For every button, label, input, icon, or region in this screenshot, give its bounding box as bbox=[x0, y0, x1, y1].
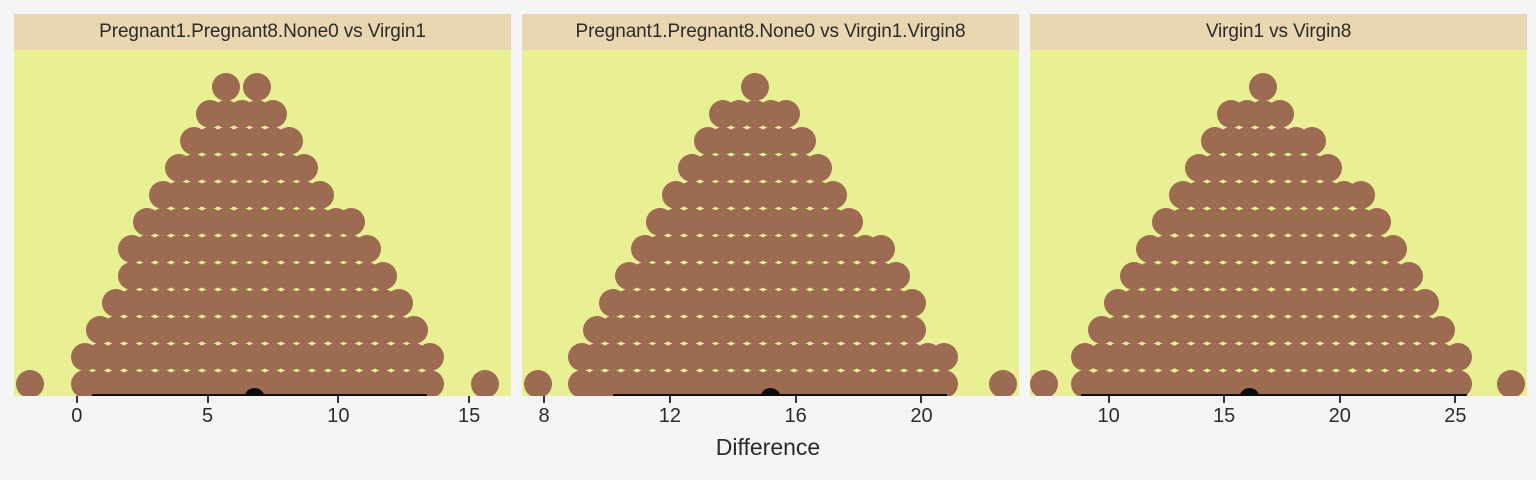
facet-panel-2: Pregnant1.Pregnant8.None0 vs Virgin1.Vir… bbox=[522, 14, 1019, 396]
data-dot bbox=[400, 316, 428, 344]
x-axis-panel-3: 10152025 bbox=[1030, 396, 1527, 406]
data-dot bbox=[1363, 208, 1391, 236]
data-dot bbox=[16, 370, 44, 396]
x-axis-tick-mark bbox=[795, 396, 797, 403]
x-axis-tick-mark bbox=[207, 396, 209, 403]
data-dot bbox=[1427, 316, 1455, 344]
x-axis-tick-mark bbox=[468, 396, 470, 403]
x-axis-tick-label: 0 bbox=[71, 405, 82, 428]
x-axis-tick-mark bbox=[76, 396, 78, 403]
x-axis-tick-label: 5 bbox=[202, 405, 213, 428]
facet-strip-2: Pregnant1.Pregnant8.None0 vs Virgin1.Vir… bbox=[522, 14, 1019, 50]
data-dot bbox=[882, 262, 910, 290]
data-dot bbox=[835, 208, 863, 236]
x-axis-tick-mark bbox=[920, 396, 922, 403]
data-dot bbox=[243, 73, 271, 101]
data-dot bbox=[1395, 262, 1423, 290]
facet-panel-1: Pregnant1.Pregnant8.None0 vs Virgin1 bbox=[14, 14, 511, 396]
facet-strip-3: Virgin1 vs Virgin8 bbox=[1030, 14, 1527, 50]
x-axis-tick-label: 16 bbox=[785, 405, 807, 428]
x-axis-tick-label: 10 bbox=[327, 405, 349, 428]
data-dot bbox=[772, 100, 800, 128]
x-axis-tick-label: 25 bbox=[1444, 405, 1466, 428]
data-dot bbox=[930, 343, 958, 371]
data-dot bbox=[741, 73, 769, 101]
facet-strip-1: Pregnant1.Pregnant8.None0 vs Virgin1 bbox=[14, 14, 511, 50]
data-dot bbox=[1266, 100, 1294, 128]
data-dot bbox=[275, 127, 303, 155]
data-dot bbox=[1347, 181, 1375, 209]
data-dot bbox=[212, 73, 240, 101]
x-axis-tick-mark bbox=[1339, 396, 1341, 403]
facet-strip-label-2: Pregnant1.Pregnant8.None0 vs Virgin1.Vir… bbox=[576, 21, 966, 43]
x-axis-tick-label: 20 bbox=[1329, 405, 1351, 428]
x-axis-tick-label: 15 bbox=[458, 405, 480, 428]
x-axis-panel-1: 051015 bbox=[14, 396, 511, 406]
x-axis-tick-mark bbox=[543, 396, 545, 403]
facet-panel-3: Virgin1 vs Virgin8 bbox=[1030, 14, 1527, 396]
data-dot bbox=[471, 370, 499, 396]
data-dot bbox=[369, 262, 397, 290]
facet-plot-area-2 bbox=[522, 50, 1019, 396]
data-dot bbox=[1411, 289, 1439, 317]
data-dot bbox=[930, 370, 958, 396]
data-dot bbox=[1298, 127, 1326, 155]
x-axis-title: Difference bbox=[0, 434, 1536, 461]
x-axis-tick-mark bbox=[1454, 396, 1456, 403]
data-dot bbox=[385, 289, 413, 317]
data-dot bbox=[1249, 73, 1277, 101]
data-dot bbox=[898, 289, 926, 317]
x-axis-tick-label: 15 bbox=[1213, 405, 1235, 428]
facet-strip-label-1: Pregnant1.Pregnant8.None0 vs Virgin1 bbox=[99, 21, 426, 43]
x-axis-tick-mark bbox=[1223, 396, 1225, 403]
data-dot bbox=[1030, 370, 1058, 396]
x-axis-panel-2: 8121620 bbox=[522, 396, 1019, 406]
data-dot bbox=[804, 154, 832, 182]
data-dot bbox=[353, 235, 381, 263]
x-axis-tick-label: 10 bbox=[1097, 405, 1119, 428]
facet-plot-area-3 bbox=[1030, 50, 1527, 396]
data-dot bbox=[416, 370, 444, 396]
data-dot bbox=[898, 316, 926, 344]
data-dot bbox=[290, 154, 318, 182]
data-dot bbox=[819, 181, 847, 209]
facet-strip-label-3: Virgin1 vs Virgin8 bbox=[1206, 21, 1351, 43]
data-dot bbox=[1314, 154, 1342, 182]
data-dot bbox=[416, 343, 444, 371]
data-dot bbox=[867, 235, 895, 263]
data-dot bbox=[1444, 343, 1472, 371]
data-dot bbox=[259, 100, 287, 128]
data-dot bbox=[524, 370, 552, 396]
x-axis-tick-mark bbox=[337, 396, 339, 403]
data-dot bbox=[306, 181, 334, 209]
data-dot bbox=[1444, 370, 1472, 396]
data-dot bbox=[788, 127, 816, 155]
dot-plot-figure: Pregnant1.Pregnant8.None0 vs Virgin1 051… bbox=[0, 0, 1536, 480]
x-axis-tick-label: 8 bbox=[538, 405, 549, 428]
data-dot bbox=[337, 208, 365, 236]
data-dot bbox=[1497, 370, 1525, 396]
data-dot bbox=[989, 370, 1017, 396]
x-axis-tick-label: 12 bbox=[659, 405, 681, 428]
facet-plot-area-1 bbox=[14, 50, 511, 396]
data-dot bbox=[1379, 235, 1407, 263]
x-axis-tick-mark bbox=[1108, 396, 1110, 403]
x-axis-tick-label: 20 bbox=[910, 405, 932, 428]
x-axis-tick-mark bbox=[669, 396, 671, 403]
